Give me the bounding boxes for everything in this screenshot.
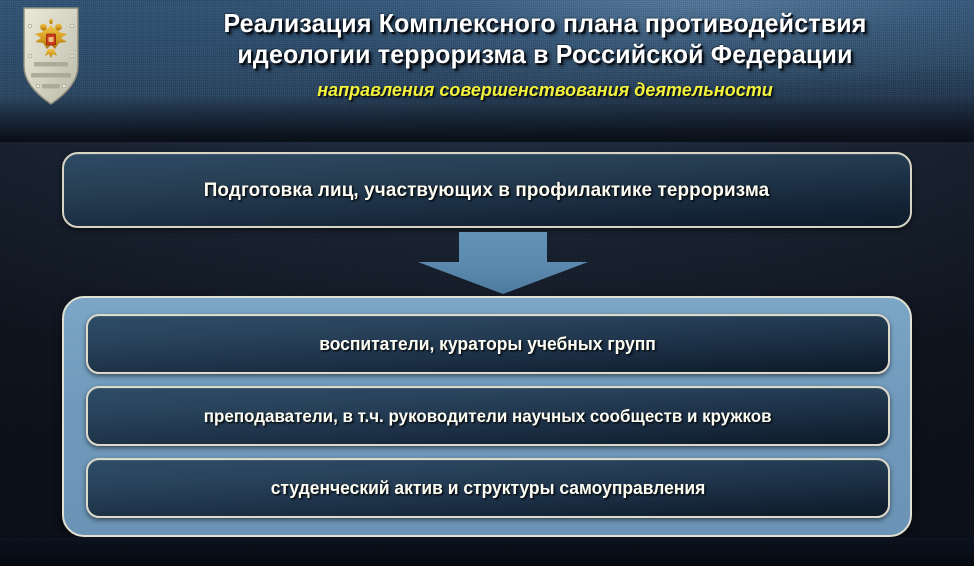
title-block: Реализация Комплексного плана противодей… <box>120 8 970 101</box>
slide-canvas: Реализация Комплексного плана противодей… <box>0 0 974 566</box>
sub-plate-label-3: студенческий актив и структуры самоуправ… <box>271 478 706 499</box>
sub-plate-card-3[interactable]: студенческий актив и структуры самоуправ… <box>86 458 890 518</box>
sub-plate-label-2: преподаватели, в т.ч. руководители научн… <box>204 406 772 427</box>
top-plate-label: Подготовка лиц, участвующих в профилакти… <box>204 179 770 202</box>
top-plate-card[interactable]: Подготовка лиц, участвующих в профилакти… <box>62 152 912 228</box>
sub-plate-card-2[interactable]: преподаватели, в т.ч. руководители научн… <box>86 386 890 446</box>
russian-coat-of-arms-shield-icon <box>18 4 84 108</box>
down-arrow-icon <box>418 232 588 294</box>
page-subtitle: направления совершенствования деятельнос… <box>120 79 970 101</box>
header-banner: Реализация Комплексного плана противодей… <box>0 0 974 136</box>
sub-plate-label-1: воспитатели, кураторы учебных групп <box>320 334 657 355</box>
sub-plate-card-1[interactable]: воспитатели, кураторы учебных групп <box>86 314 890 374</box>
bottom-strip <box>0 537 974 566</box>
header-fade-overlay <box>0 96 974 142</box>
page-title-line-2: идеологии терроризма в Российской Федера… <box>137 39 953 70</box>
outer-panel: воспитатели, кураторы учебных групп преп… <box>62 296 912 537</box>
page-title-line-1: Реализация Комплексного плана противодей… <box>137 8 953 39</box>
